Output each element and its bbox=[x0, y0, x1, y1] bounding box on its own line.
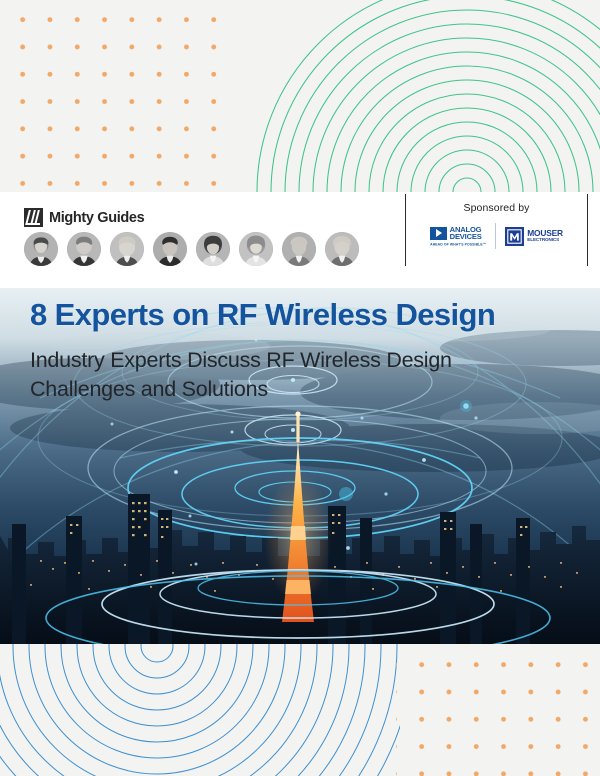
ebook-cover: Mighty Guides bbox=[0, 0, 600, 776]
sponsor-box: Sponsored by ANALOG DEVICES AHEAD OF WHA… bbox=[405, 194, 588, 266]
avatar bbox=[24, 232, 58, 266]
mouser-m-mark-icon bbox=[505, 227, 524, 246]
orange-dot-pattern-top bbox=[0, 0, 232, 192]
blue-concentric-rings-bottom bbox=[0, 644, 400, 776]
mouser-name-line1: MOUSER bbox=[527, 229, 563, 237]
avatar bbox=[196, 232, 230, 266]
bottom-decorative-band bbox=[0, 644, 600, 776]
avatar bbox=[67, 232, 101, 266]
mouser-electronics-logo[interactable]: MOUSER ELECTRONICS bbox=[505, 227, 563, 246]
green-concentric-rings-top bbox=[222, 0, 600, 192]
mighty-guides-logo[interactable]: Mighty Guides bbox=[24, 208, 144, 227]
mouser-name-line2: ELECTRONICS bbox=[527, 238, 563, 243]
sponsored-by-label: Sponsored by bbox=[464, 202, 530, 214]
analog-devices-tagline: AHEAD OF WHAT'S POSSIBLE™ bbox=[430, 242, 486, 247]
avatar bbox=[325, 232, 359, 266]
top-decorative-band bbox=[0, 0, 600, 192]
orange-dot-pattern-bottom bbox=[396, 644, 600, 776]
analog-devices-logo[interactable]: ANALOG DEVICES AHEAD OF WHAT'S POSSIBLE™ bbox=[430, 226, 486, 247]
expert-avatar-row bbox=[24, 232, 359, 266]
avatar bbox=[282, 232, 316, 266]
brand-name: Mighty Guides bbox=[49, 210, 144, 226]
sponsor-logo-row: ANALOG DEVICES AHEAD OF WHAT'S POSSIBLE™… bbox=[430, 223, 563, 249]
avatar bbox=[153, 232, 187, 266]
analog-devices-triangle-icon bbox=[430, 227, 447, 240]
hero-image bbox=[0, 288, 600, 644]
analog-devices-name-line2: DEVICES bbox=[450, 233, 482, 241]
mighty-guides-m-mark-icon bbox=[24, 208, 43, 227]
avatar bbox=[239, 232, 273, 266]
avatar bbox=[110, 232, 144, 266]
sponsor-divider bbox=[495, 223, 496, 249]
